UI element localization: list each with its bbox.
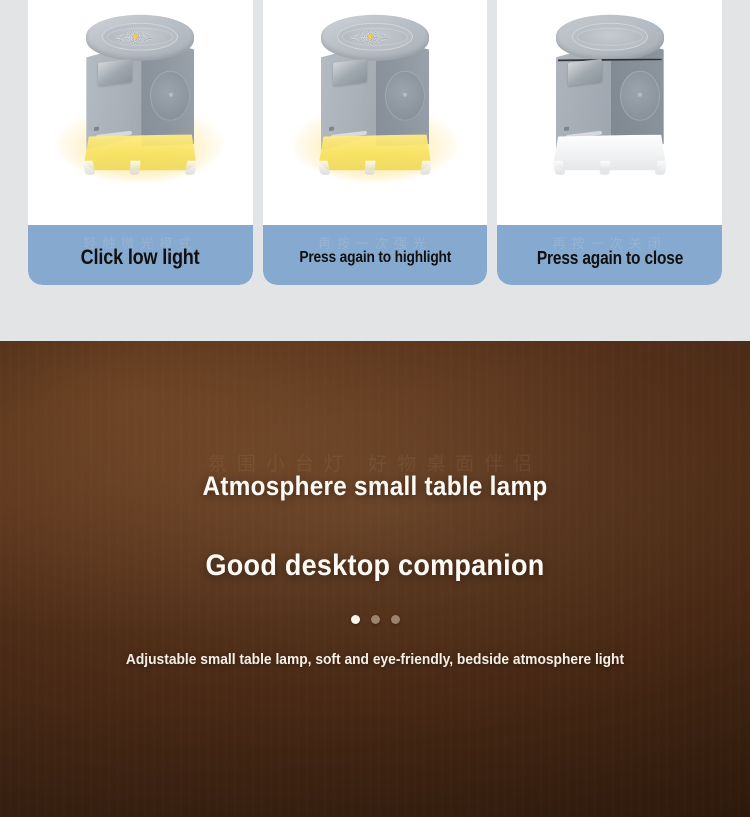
- lightning-bolt-icon: ⚡: [366, 33, 373, 40]
- card-caption-off: 再按一次关闭 Press again to close: [497, 225, 722, 285]
- speaker-grille: [620, 70, 660, 120]
- hero-subtitle: Good desktop companion: [38, 549, 713, 583]
- hero-banner: 氛围小台灯 好物桌面伴侣 Atmosphere small table lamp…: [0, 341, 750, 817]
- hero-copy: 氛围小台灯 好物桌面伴侣 Atmosphere small table lamp…: [0, 341, 750, 817]
- product-image-high: ⚡: [263, 0, 488, 225]
- indicator-dot: [329, 126, 334, 131]
- product-image-low: ⚡: [28, 0, 253, 225]
- wireless-charging-lid: [556, 14, 664, 60]
- hero-description: Adjustable small table lamp, soft and ey…: [30, 651, 720, 668]
- indicator-dot: [94, 126, 99, 131]
- speaker-grille: [385, 70, 425, 120]
- speaker-grille: [150, 70, 190, 120]
- product-image-off: [497, 0, 722, 225]
- lamp-mode-card-low[interactable]: ⚡ 轻触微光模式 Click low light: [28, 0, 253, 285]
- base-legs: [80, 158, 200, 174]
- lamp-mode-card-off[interactable]: 再按一次关闭 Press again to close: [497, 0, 722, 285]
- base-legs: [550, 158, 670, 174]
- carousel-dot-2[interactable]: [371, 615, 380, 624]
- cube-lamp-illustration: ⚡: [315, 14, 435, 174]
- base-legs: [315, 158, 435, 174]
- indicator-dot: [564, 126, 569, 131]
- display-panel: [333, 58, 367, 85]
- carousel-pagination[interactable]: [0, 615, 750, 624]
- carousel-dot-3[interactable]: [391, 615, 400, 624]
- lamp-mode-card-row: ⚡ 轻触微光模式 Click low light: [28, 0, 722, 285]
- caption-label-off: Press again to close: [537, 248, 683, 269]
- cube-lamp-illustration: [550, 14, 670, 174]
- cube-lamp-illustration: ⚡: [80, 14, 200, 174]
- card-caption-low: 轻触微光模式 Click low light: [28, 225, 253, 285]
- card-caption-high: 再按一次强光 Press again to highlight: [263, 225, 488, 285]
- product-detail-page: ⚡ 轻触微光模式 Click low light: [0, 0, 750, 817]
- caption-label-high: Press again to highlight: [299, 249, 451, 267]
- caption-label-low: Click low light: [81, 246, 200, 270]
- display-panel: [98, 58, 132, 85]
- display-panel: [568, 58, 602, 85]
- lightning-bolt-icon: ⚡: [131, 33, 138, 40]
- lamp-mode-card-high[interactable]: ⚡ 再按一次强光 Press again to highlight: [263, 0, 488, 285]
- carousel-dot-1[interactable]: [351, 615, 360, 624]
- lamp-modes-section: ⚡ 轻触微光模式 Click low light: [0, 0, 750, 338]
- hero-title: Atmosphere small table lamp: [38, 471, 713, 502]
